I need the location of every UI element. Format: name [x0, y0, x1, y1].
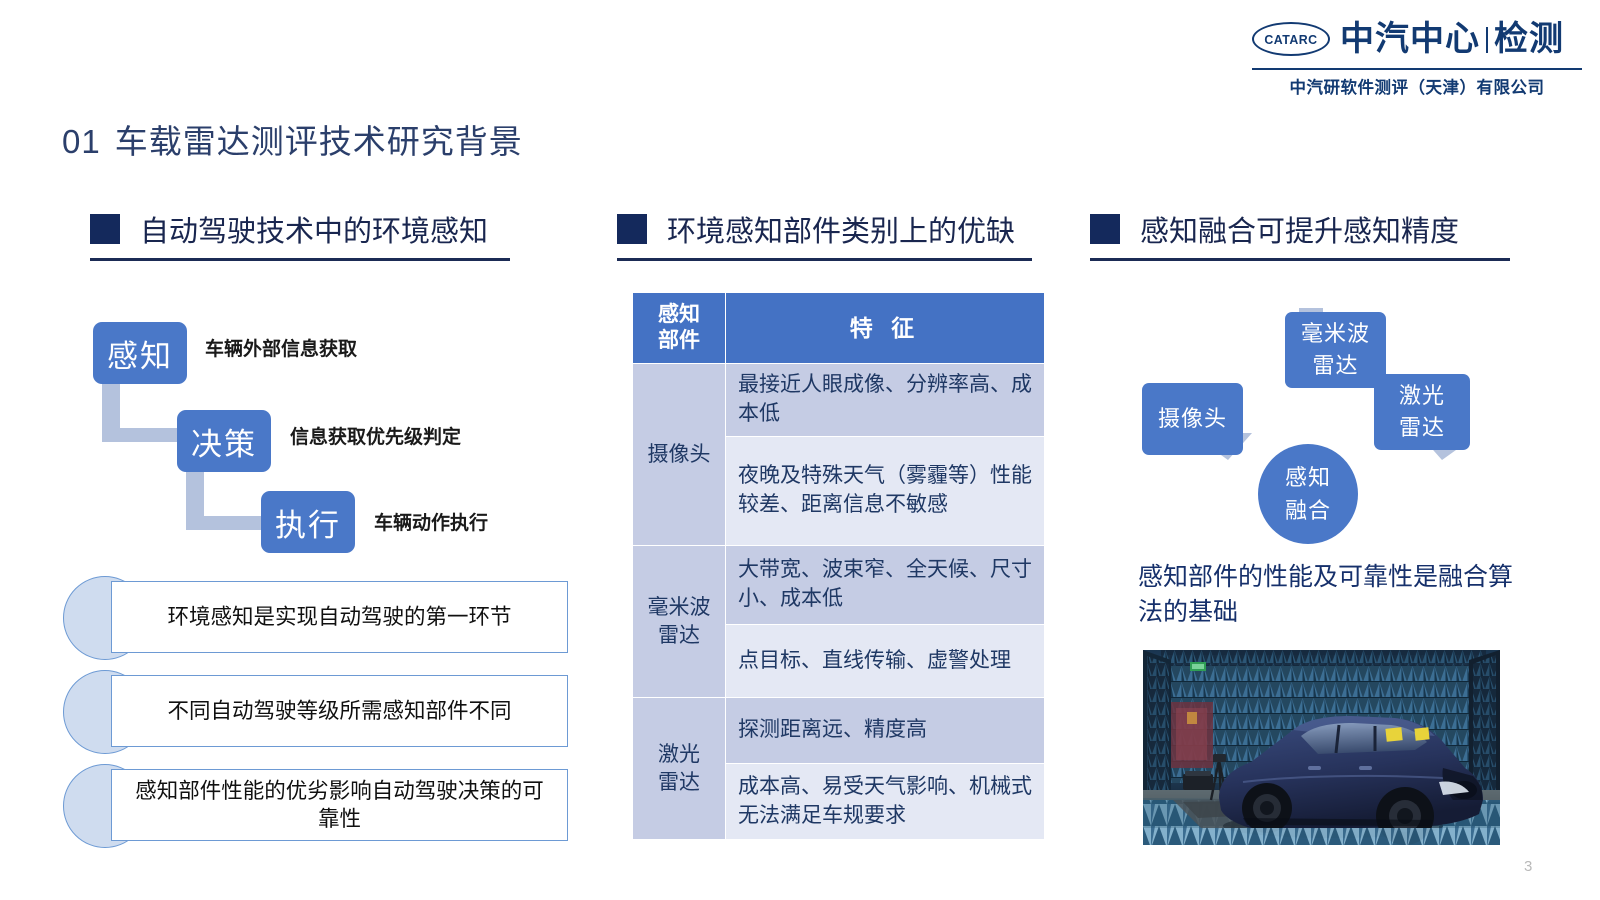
callout-item-3[interactable]: 感知部件性能的优劣影响自动驾驶决策的可靠性 — [63, 764, 568, 846]
callout-item-2[interactable]: 不同自动驾驶等级所需感知部件不同 — [63, 670, 568, 752]
page-title-number: 01 — [62, 123, 101, 160]
bullet-square-icon — [90, 214, 120, 244]
brand-company: 中汽研软件测评（天津）有限公司 — [1252, 74, 1582, 98]
brand-name-sub: 检测 — [1494, 20, 1564, 58]
table-cell-component-mmwave: 毫米波 雷达 — [633, 546, 726, 698]
fusion-node-center[interactable]: 感知 融合 — [1258, 444, 1358, 544]
table-cell-component-lidar: 激光 雷达 — [633, 698, 726, 840]
section-header-1: 自动驾驶技术中的环境感知 — [90, 208, 510, 261]
chamber-photo-illustration — [1143, 650, 1500, 845]
section-underline — [1090, 258, 1510, 261]
bullet-square-icon — [617, 214, 647, 244]
catarc-logo-text: CATARC — [1264, 32, 1317, 47]
section-underline — [617, 258, 1032, 261]
section-underline — [90, 258, 510, 261]
brand-header: CATARC 中汽中心检测 中汽研软件测评（天津）有限公司 — [1252, 14, 1582, 98]
section-label: 自动驾驶技术中的环境感知 — [140, 208, 488, 250]
callout-item-1[interactable]: 环境感知是实现自动驾驶的第一环节 — [63, 576, 568, 658]
section-header-3: 感知融合可提升感知精度 — [1090, 208, 1510, 261]
table-cell-component-camera: 摄像头 — [633, 364, 726, 546]
section-label: 感知融合可提升感知精度 — [1140, 208, 1459, 250]
page-title: 01车载雷达测评技术研究背景 — [62, 115, 523, 163]
fusion-note: 感知部件的性能及可靠性是融合算法的基础 — [1138, 560, 1523, 629]
callout-text: 环境感知是实现自动驾驶的第一环节 — [153, 603, 525, 631]
flow-label-execution: 车辆动作执行 — [374, 508, 488, 535]
fusion-node-mmwave[interactable]: 毫米波 雷达 — [1285, 312, 1386, 388]
table-cell-feature: 成本高、易受天气影响、机械式无法满足车规要求 — [726, 764, 1045, 840]
flow-box-execution[interactable]: 执行 — [261, 491, 355, 553]
test-chamber-photo — [1143, 650, 1500, 845]
fusion-node-camera[interactable]: 摄像头 — [1142, 383, 1243, 455]
brand-divider-icon — [1486, 27, 1488, 53]
table-header-feature: 特 征 — [726, 293, 1045, 364]
callout-text: 不同自动驾驶等级所需感知部件不同 — [153, 697, 525, 725]
table-cell-feature: 探测距离远、精度高 — [726, 698, 1045, 764]
callout-text: 感知部件性能的优劣影响自动驾驶决策的可靠性 — [112, 777, 567, 834]
brand-name-main: 中汽中心 — [1340, 20, 1480, 58]
brand-logo-row: CATARC 中汽中心检测 — [1252, 14, 1582, 64]
table-header-component: 感知 部件 — [633, 293, 726, 364]
section-header-2: 环境感知部件类别上的优缺 — [617, 208, 1032, 261]
table-cell-feature: 点目标、直线传输、虚警处理 — [726, 625, 1045, 698]
slide-root: CATARC 中汽中心检测 中汽研软件测评（天津）有限公司 01车载雷达测评技术… — [0, 0, 1600, 900]
brand-name: 中汽中心检测 — [1340, 22, 1564, 56]
bullet-square-icon — [1090, 214, 1120, 244]
catarc-logo-icon: CATARC — [1252, 22, 1330, 56]
section-label: 环境感知部件类别上的优缺 — [667, 208, 1015, 250]
table-row: 摄像头 最接近人眼成像、分辨率高、成本低 — [633, 364, 1045, 437]
table-header-row: 感知 部件 特 征 — [633, 293, 1045, 364]
table-row: 激光 雷达 探测距离远、精度高 — [633, 698, 1045, 764]
table-row: 毫米波 雷达 大带宽、波束窄、全天候、尺寸小、成本低 — [633, 546, 1045, 625]
table-cell-feature: 大带宽、波束窄、全天候、尺寸小、成本低 — [726, 546, 1045, 625]
feature-table: 感知 部件 特 征 摄像头 最接近人眼成像、分辨率高、成本低 夜晚及特殊天气（雾… — [632, 292, 1045, 840]
page-title-text: 车载雷达测评技术研究背景 — [115, 123, 523, 160]
flow-box-perception[interactable]: 感知 — [93, 322, 187, 384]
flow-box-decision[interactable]: 决策 — [177, 410, 271, 472]
table-cell-feature: 最接近人眼成像、分辨率高、成本低 — [726, 364, 1045, 437]
fusion-node-lidar[interactable]: 激光 雷达 — [1374, 374, 1470, 450]
brand-rule — [1252, 68, 1582, 70]
flow-label-decision: 信息获取优先级判定 — [290, 422, 461, 449]
flow-label-perception: 车辆外部信息获取 — [205, 334, 357, 361]
page-number: 3 — [1524, 858, 1532, 875]
table-cell-feature: 夜晚及特殊天气（雾霾等）性能较差、距离信息不敏感 — [726, 437, 1045, 546]
